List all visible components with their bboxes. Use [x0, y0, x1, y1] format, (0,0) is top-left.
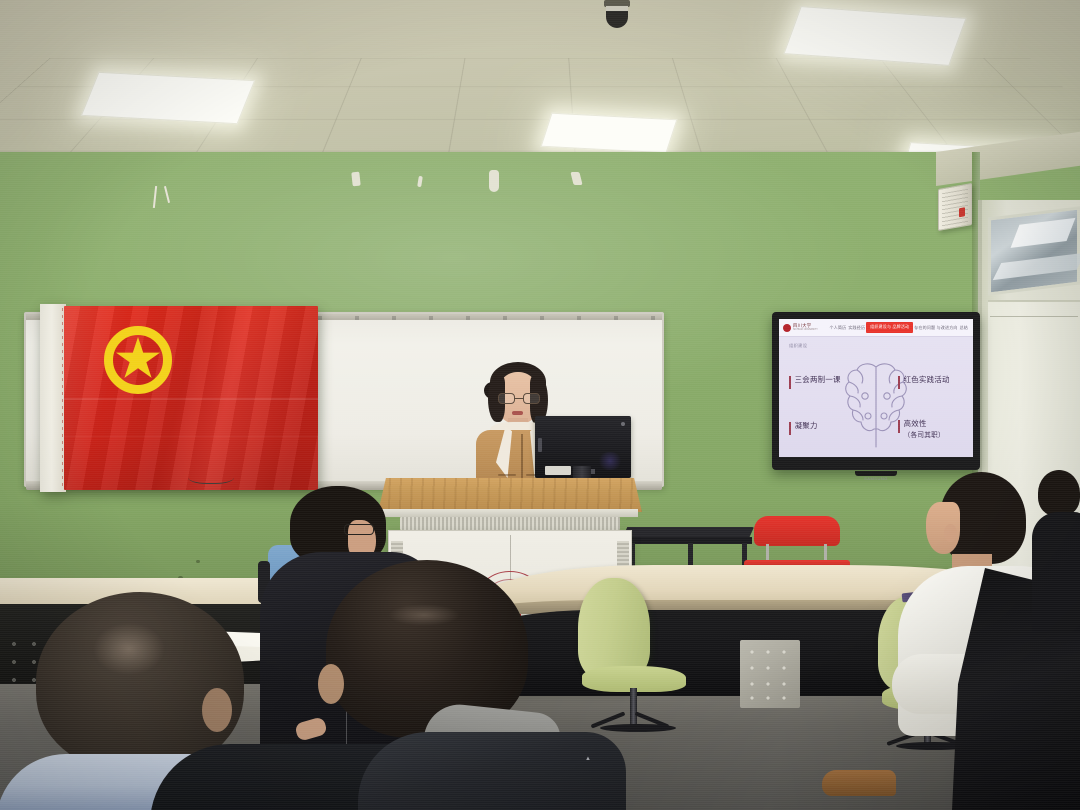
- eyeglasses-icon: [344, 524, 374, 535]
- student-front-right: ▲: [296, 560, 616, 810]
- led-panel-light: [541, 113, 678, 154]
- led-panel-light: [81, 72, 255, 124]
- slide-nav-items: 个人简历 实践经历 组织建设与 品牌活动 存在的问题 与改进方向 总结: [829, 322, 969, 333]
- keyword-accent-bar: [789, 422, 791, 435]
- yellow-star-in-circle-icon: [104, 326, 172, 394]
- desk-metal-plate: [740, 640, 800, 708]
- window-reflection: [993, 253, 1080, 280]
- eyeglasses-icon: [498, 393, 540, 404]
- keyword-accent-bar: [789, 376, 791, 389]
- keyword-text: 高效性: [904, 419, 945, 429]
- display-mount: [855, 471, 897, 476]
- door-seam: [990, 316, 1078, 317]
- monitor-power-led: [621, 422, 625, 426]
- monitor-sticker: [545, 466, 571, 475]
- smart-display[interactable]: 四川大学 SICHUAN UNIVERSITY 个人简历 实践经历 组织建设与 …: [772, 312, 980, 470]
- slide-keyword: 高效性 （各司其职）: [898, 419, 945, 441]
- cyl-flag: [40, 304, 318, 492]
- flag-hoist-sleeve: [40, 304, 66, 492]
- keyword-text: 三会两制一课: [795, 375, 841, 385]
- slide-nav-item[interactable]: 存在的问题 与改进方向: [913, 323, 958, 333]
- ceiling: [0, 0, 1080, 160]
- keyword-subtext: （各司其职）: [904, 432, 945, 441]
- display-screen: 四川大学 SICHUAN UNIVERSITY 个人简历 实践经历 组织建设与 …: [779, 319, 973, 457]
- transom-window: [988, 206, 1080, 295]
- monitor-brand-mark: [538, 438, 542, 452]
- student-denim-jacket: ▲: [358, 732, 626, 810]
- slide-keyword: 红色实践活动: [898, 375, 950, 389]
- display-brand-label: SAMSUNG: [864, 476, 888, 481]
- slide-nav-item[interactable]: 总结: [959, 323, 969, 333]
- student-far-right: [1032, 470, 1080, 630]
- dome-security-camera-icon: [604, 0, 630, 28]
- tape-residue: [351, 172, 360, 187]
- keyword-text: 红色实践活动: [904, 375, 950, 385]
- university-seal-icon: [783, 324, 791, 332]
- keyword-accent-bar: [898, 376, 900, 389]
- slide-navbar: 四川大学 SICHUAN UNIVERSITY 个人简历 实践经历 组织建设与 …: [779, 319, 973, 337]
- slide-nav-item[interactable]: 实践经历: [847, 323, 866, 333]
- slide-nav-item-active[interactable]: 组织建设与 品牌活动: [866, 322, 913, 333]
- keyword-accent-bar: [898, 420, 900, 433]
- tape-residue: [489, 170, 499, 192]
- slide-keyword: 三会两制一课: [789, 375, 841, 389]
- student-torso: [1032, 512, 1080, 632]
- slide-nav-item[interactable]: 个人简历: [829, 323, 848, 333]
- student-ear: [944, 524, 957, 542]
- slide-body: 三会两制一课 凝聚力 红色实践活动 高效性 （各司其职）: [779, 353, 973, 457]
- slide-subheading: 组织建设: [789, 343, 807, 349]
- shoe: [822, 770, 896, 796]
- window-reflection: [1011, 218, 1076, 248]
- wall-speaker: [938, 183, 972, 231]
- university-logo: 四川大学 SICHUAN UNIVERSITY: [783, 324, 829, 332]
- keyword-text: 凝聚力: [795, 421, 818, 431]
- flag-field: [64, 306, 318, 490]
- slide-keyword: 凝聚力: [789, 421, 818, 435]
- wall-scuff: [196, 560, 200, 563]
- classroom-photo: 四川大学 SICHUAN UNIVERSITY 个人简历 实践经历 组织建设与 …: [0, 0, 1080, 810]
- speaker-badge: [959, 207, 965, 217]
- presenter-mouth: [512, 411, 523, 415]
- university-logo-subtitle: SICHUAN UNIVERSITY: [793, 329, 818, 331]
- student-ear: [202, 688, 232, 732]
- student-ear: [318, 664, 344, 704]
- student-hair: [1038, 470, 1080, 516]
